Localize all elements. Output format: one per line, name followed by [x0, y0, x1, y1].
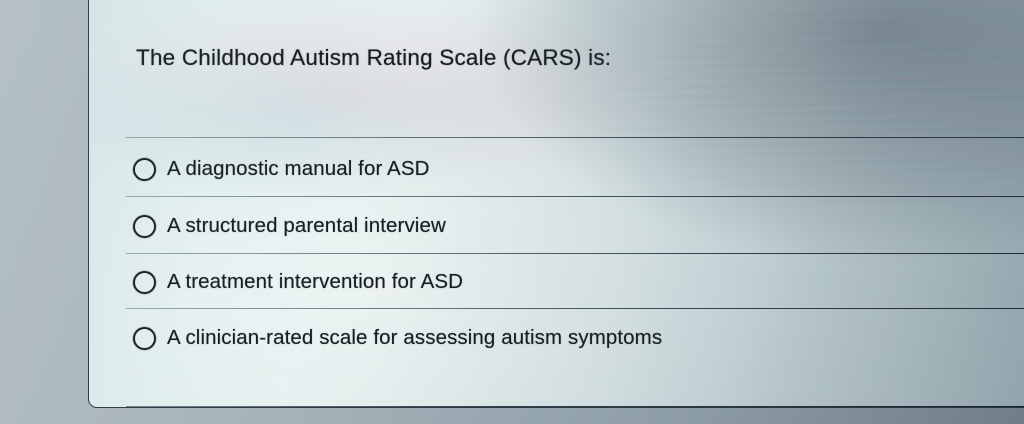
option-label-3: A treatment intervention for ASD [167, 270, 463, 294]
divider-top [126, 137, 1024, 138]
radio-button-icon-1[interactable] [133, 158, 156, 181]
divider-2 [126, 253, 1024, 254]
option-row-3[interactable]: A treatment intervention for ASD [133, 270, 463, 294]
option-label-2: A structured parental interview [167, 214, 446, 238]
quiz-content: The Childhood Autism Rating Scale (CARS)… [89, 0, 1024, 407]
divider-1 [126, 196, 1024, 197]
radio-button-icon-4[interactable] [133, 327, 156, 350]
option-row-1[interactable]: A diagnostic manual for ASD [133, 157, 430, 181]
option-row-4[interactable]: A clinician-rated scale for assessing au… [133, 326, 662, 350]
option-row-2[interactable]: A structured parental interview [133, 214, 446, 238]
quiz-card: The Childhood Autism Rating Scale (CARS)… [88, 0, 1024, 408]
divider-3 [126, 308, 1024, 309]
option-label-4: A clinician-rated scale for assessing au… [167, 326, 662, 350]
divider-bottom [126, 406, 1024, 407]
screenshot-root: The Childhood Autism Rating Scale (CARS)… [0, 0, 1024, 424]
option-label-1: A diagnostic manual for ASD [167, 157, 430, 181]
radio-button-icon-2[interactable] [133, 215, 156, 238]
radio-button-icon-3[interactable] [133, 271, 156, 294]
question-text: The Childhood Autism Rating Scale (CARS)… [136, 45, 611, 71]
